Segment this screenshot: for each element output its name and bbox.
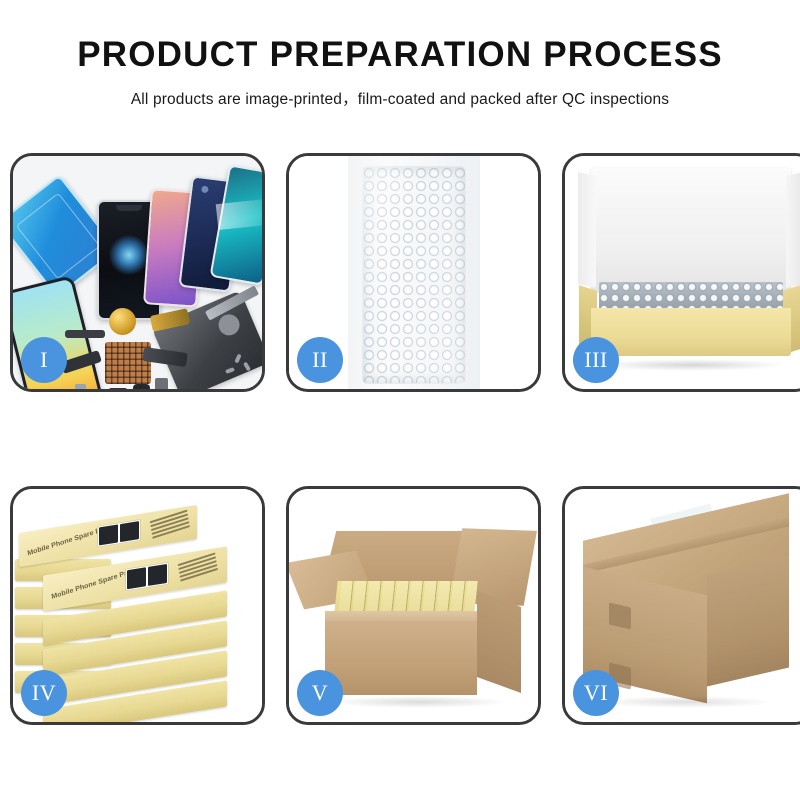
inner-box-front [591,308,791,356]
step-panel-5: V [286,486,541,725]
inner-box-lid [591,168,791,292]
process-steps-grid: I II III [10,153,796,725]
sim-tray-part [75,384,86,389]
drop-shadow [595,359,787,371]
page-title: PRODUCT PREPARATION PROCESS [0,36,800,75]
step-panel-4: Mobile Phone Spare Parts Mobile Phone Sp… [10,486,265,725]
drop-shadow [595,696,775,708]
battery-connector-part [155,378,168,389]
step-panel-6: VI [562,486,800,725]
product-preparation-infographic: PRODUCT PREPARATION PROCESS All products… [0,0,800,800]
bubble-wrap-sheen [362,166,466,384]
header: PRODUCT PREPARATION PROCESS All products… [0,0,800,109]
step-badge-5: V [297,670,343,716]
carton-front-face [325,621,477,695]
speaker-part [109,308,136,335]
step-badge-4: IV [21,670,67,716]
drop-shadow [329,696,509,708]
step-badge-2: II [297,337,343,383]
camera-module-part [133,384,150,389]
carton-side-face [477,591,521,693]
step-panel-3: III [562,153,800,392]
box-spec-lines [178,552,219,583]
carton-side-face [707,556,789,687]
ic-chip-part [109,388,127,389]
step-panel-2: II [286,153,541,392]
step-badge-1: I [21,337,67,383]
box-spec-lines [150,510,191,541]
step-badge-6: VI [573,670,619,716]
antenna-bar-part [65,330,105,338]
step-panel-1: I [10,153,265,392]
box-screen-artwork [97,519,141,548]
page-subtitle: All products are image-printed，film-coat… [0,87,800,109]
box-screen-artwork [125,562,169,592]
step-badge-3: III [573,337,619,383]
